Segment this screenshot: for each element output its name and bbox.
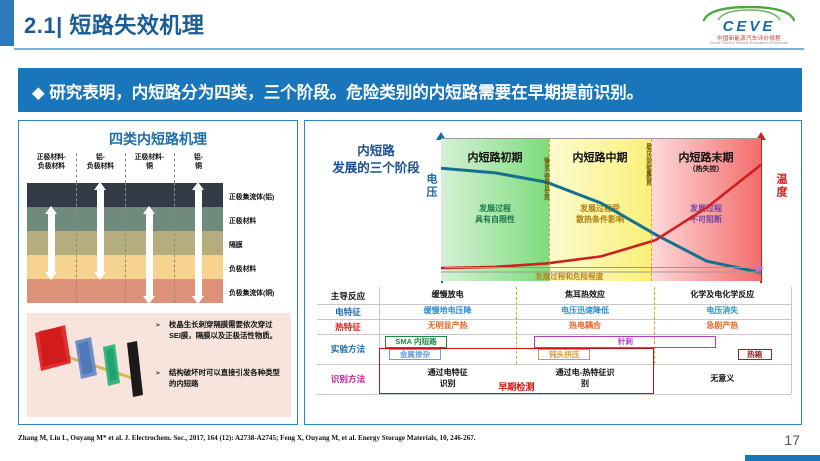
lp-stack-divider-1 bbox=[76, 183, 77, 303]
caption-line-1: 内短路 bbox=[317, 143, 435, 160]
dendrite-growth-icon bbox=[31, 317, 153, 413]
zone-late-note: 发展过程不可阻断 bbox=[651, 203, 761, 225]
divider-label-1: 噪音不明显且生热 bbox=[542, 157, 550, 200]
progress-label: 发展过程和危险程度 bbox=[535, 271, 603, 282]
method-box-0[interactable]: SMA 内短路 bbox=[385, 336, 447, 348]
table-row-label-4: 识别方法 bbox=[317, 373, 379, 385]
key-message-banner: ◆ 研究表明，内短路分为四类，三个阶段。危险类别的内短路需要在早期提前识别。 bbox=[18, 68, 802, 112]
battery-layer-label-4: 负极集流体(铜) bbox=[229, 287, 274, 297]
zone-early-title: 内短路初期 bbox=[441, 149, 549, 165]
battery-layer-label-3: 负极材料 bbox=[229, 263, 256, 273]
slide-header: 2.1| 短路失效机理 CEVE 中国新能源汽车评价规程 China Elect… bbox=[0, 0, 820, 50]
zone-late: 内短路末期 （热失控） 发展过程不可阻断 bbox=[651, 139, 761, 281]
zone-late-subtitle: （热失控） bbox=[651, 164, 761, 174]
divider-label-2: 是否达到能量临界 bbox=[644, 143, 652, 186]
bullet-marker-2: ➢ bbox=[155, 369, 161, 377]
lp-column-divider-3 bbox=[174, 153, 175, 183]
lp-column-divider-1 bbox=[76, 153, 77, 183]
lp-column-header-3: 铝-铜 bbox=[160, 153, 237, 171]
header-divider bbox=[14, 48, 804, 50]
stage-plot: 内短路初期 发展过程具有自限性 内短路中期 发展过程受散热条件影响 内短路末期 … bbox=[441, 139, 761, 281]
layer-arrow-0 bbox=[48, 213, 55, 273]
dendrite-illustration-block: ➢ 枝晶生长刺穿隔膜需要依次穿过SEI膜，隔膜以及正极活性物质。 ➢ 结构破坏时… bbox=[27, 313, 291, 417]
table-row-label-0: 主导反应 bbox=[317, 290, 379, 302]
header-accent-bar bbox=[0, 0, 14, 46]
method-box-4[interactable]: 热箱 bbox=[738, 349, 772, 360]
battery-layer-label-1: 正极材料 bbox=[229, 215, 256, 225]
table-cell-1-1: 电压迅速降低 bbox=[516, 306, 653, 317]
battery-layer-label-0: 正极集流体(铝) bbox=[229, 191, 274, 201]
ceve-logo: CEVE 中国新能源汽车评价规程 China Electric Vehicle … bbox=[694, 6, 804, 46]
page-title: 2.1| 短路失效机理 bbox=[24, 8, 204, 40]
method-box-2[interactable]: 针刺 bbox=[534, 336, 716, 348]
battery-layer-stack: 正极集流体(铝)正极材料隔膜负极材料负极集流体(铜) bbox=[27, 183, 223, 303]
axis-label-temperature: 温度 bbox=[773, 173, 789, 199]
zone-late-title: 内短路末期 bbox=[651, 149, 761, 165]
zone-early: 内短路初期 发展过程具有自限性 bbox=[441, 139, 549, 281]
zone-early-note: 发展过程具有自限性 bbox=[441, 203, 549, 225]
table-col-divider-2 bbox=[654, 287, 655, 364]
citation: Zhang M, Liu L, Ouyang M* et al. J. Elec… bbox=[18, 434, 476, 442]
table-row: 热特征无明显产热热电耦合急剧产热 bbox=[317, 319, 791, 335]
table-cell-2-0: 无明显产热 bbox=[379, 321, 516, 332]
lp-stack-divider-2 bbox=[125, 183, 126, 303]
left-panel-bullet-1: 枝晶生长刺穿隔膜需要依次穿过SEI膜，隔膜以及正极活性物质。 bbox=[169, 320, 283, 341]
table-row-label-2: 热特征 bbox=[317, 321, 379, 333]
axis-label-voltage: 电压 bbox=[423, 173, 439, 199]
table-right-border bbox=[791, 287, 792, 394]
zone-middle: 内短路中期 发展过程受散热条件影响 bbox=[549, 139, 651, 281]
table-cell-2-1: 热电耦合 bbox=[516, 321, 653, 332]
logo-subtitle-en: China Electric Vehicle Evaluation Proced… bbox=[694, 41, 804, 45]
lp-stack-divider-3 bbox=[174, 183, 175, 303]
page-number: 17 bbox=[784, 432, 800, 448]
table-cell-0-1: 焦耳热效应 bbox=[516, 290, 653, 301]
table-cell-1-0: 缓慢地电压降 bbox=[379, 306, 516, 317]
table-row: 电特征缓慢地电压降电压迅速降低电压消失 bbox=[317, 304, 791, 320]
early-detection-label: 早期检测 bbox=[379, 380, 654, 393]
caption-line-2: 发展的三个阶段 bbox=[317, 160, 435, 177]
table-cell-4-2: 无意义 bbox=[654, 374, 791, 385]
table-cell-2-2: 急剧产热 bbox=[654, 321, 791, 332]
layer-arrow-3 bbox=[195, 189, 202, 297]
table-cell-1-2: 电压消失 bbox=[654, 306, 791, 317]
logo-wordmark: CEVE bbox=[694, 18, 804, 35]
table-cell-0-0: 缓慢放电 bbox=[379, 290, 516, 301]
zone-middle-note: 发展过程受散热条件影响 bbox=[549, 203, 651, 225]
left-panel-bullet-2: 结构破坏时可以直接引发各种类型的内短路 bbox=[169, 368, 283, 389]
bottom-accent-bar bbox=[745, 455, 820, 461]
banner-text: ◆ 研究表明，内短路分为四类，三个阶段。危险类别的内短路需要在早期提前识别。 bbox=[32, 79, 643, 103]
left-panel-title: 四类内短路机理 bbox=[19, 129, 297, 149]
lp-column-divider-2 bbox=[125, 153, 126, 183]
left-panel-short-circuit-types: 四类内短路机理 正极材料-负极材料铝-负极材料正极材料-铜铝-铜 正极集流体(铝… bbox=[18, 120, 298, 425]
stage-table: 主导反应缓慢放电焦耳热效应化学及电化学反应电特征缓慢地电压降电压迅速降低电压消失… bbox=[317, 287, 791, 394]
bullet-marker-1: ➢ bbox=[155, 321, 161, 329]
table-row-label-1: 电特征 bbox=[317, 306, 379, 318]
right-panel-three-stages: 内短路 发展的三个阶段 电压 温度 内短路初期 发展过程具有自限性 内短路中期 … bbox=[304, 120, 802, 425]
layer-arrow-1 bbox=[97, 189, 104, 273]
table-row: 主导反应缓慢放电焦耳热效应化学及电化学反应 bbox=[317, 287, 791, 305]
progress-arrow-icon bbox=[445, 267, 757, 268]
zone-middle-title: 内短路中期 bbox=[549, 149, 651, 165]
left-panel-column-headers: 正极材料-负极材料铝-负极材料正极材料-铜铝-铜 bbox=[27, 153, 291, 183]
table-cell-0-2: 化学及电化学反应 bbox=[654, 290, 791, 301]
layer-arrow-2 bbox=[146, 213, 153, 297]
battery-layer-label-2: 隔膜 bbox=[229, 239, 243, 249]
right-panel-caption: 内短路 发展的三个阶段 bbox=[317, 143, 435, 177]
table-row-label-3: 实验方法 bbox=[317, 343, 379, 355]
